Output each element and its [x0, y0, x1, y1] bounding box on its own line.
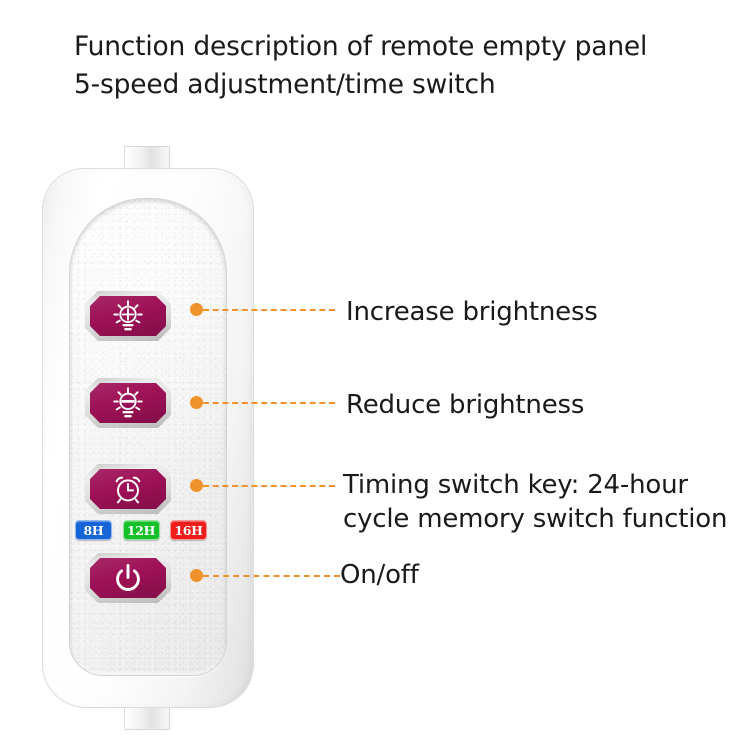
- badge-8h: 8H: [75, 520, 112, 540]
- badge-16h: 16H: [170, 520, 207, 540]
- callout-reduce-brightness: Reduce brightness: [346, 388, 584, 422]
- title-line-2: 5-speed adjustment/time switch: [74, 66, 714, 104]
- callout-timer-line-1: Timing switch key: 24-hour: [343, 468, 727, 502]
- leader-dot-increase-brightness: [190, 303, 203, 316]
- button-face: [90, 469, 166, 509]
- callout-increase-brightness: Increase brightness: [346, 295, 598, 329]
- leader-dot-reduce-brightness: [190, 396, 203, 409]
- button-face: [90, 558, 166, 598]
- timer-button[interactable]: [85, 464, 171, 514]
- leader-line-power: [203, 575, 340, 577]
- power-button[interactable]: [85, 553, 171, 603]
- product-diagram: Function description of remote empty pan…: [0, 0, 750, 750]
- leader-line-increase-brightness: [203, 309, 335, 311]
- callout-power: On/off: [340, 558, 419, 592]
- callout-timer-line-2: cycle memory switch function: [343, 502, 727, 536]
- time-badge-row: 8H 12H 16H: [75, 520, 207, 540]
- bulb-minus-icon: [111, 386, 145, 420]
- remote-control-device: 8H 12H 16H: [42, 168, 254, 708]
- power-icon: [112, 562, 144, 594]
- bulb-plus-icon: [111, 299, 145, 333]
- leader-line-timer: [203, 485, 335, 487]
- panel-texture: [70, 199, 226, 675]
- badge-12h: 12H: [123, 520, 160, 540]
- title-line-1: Function description of remote empty pan…: [74, 28, 714, 66]
- increase-brightness-button[interactable]: [85, 291, 171, 341]
- leader-line-reduce-brightness: [203, 402, 335, 404]
- button-face: [90, 383, 166, 423]
- leader-dot-power: [190, 569, 203, 582]
- alarm-clock-icon: [111, 472, 145, 506]
- callout-timer: Timing switch key: 24-hour cycle memory …: [343, 468, 727, 536]
- control-panel-inset: [69, 198, 227, 676]
- reduce-brightness-button[interactable]: [85, 378, 171, 428]
- button-face: [90, 296, 166, 336]
- page-title: Function description of remote empty pan…: [74, 28, 714, 104]
- leader-dot-timer: [190, 479, 203, 492]
